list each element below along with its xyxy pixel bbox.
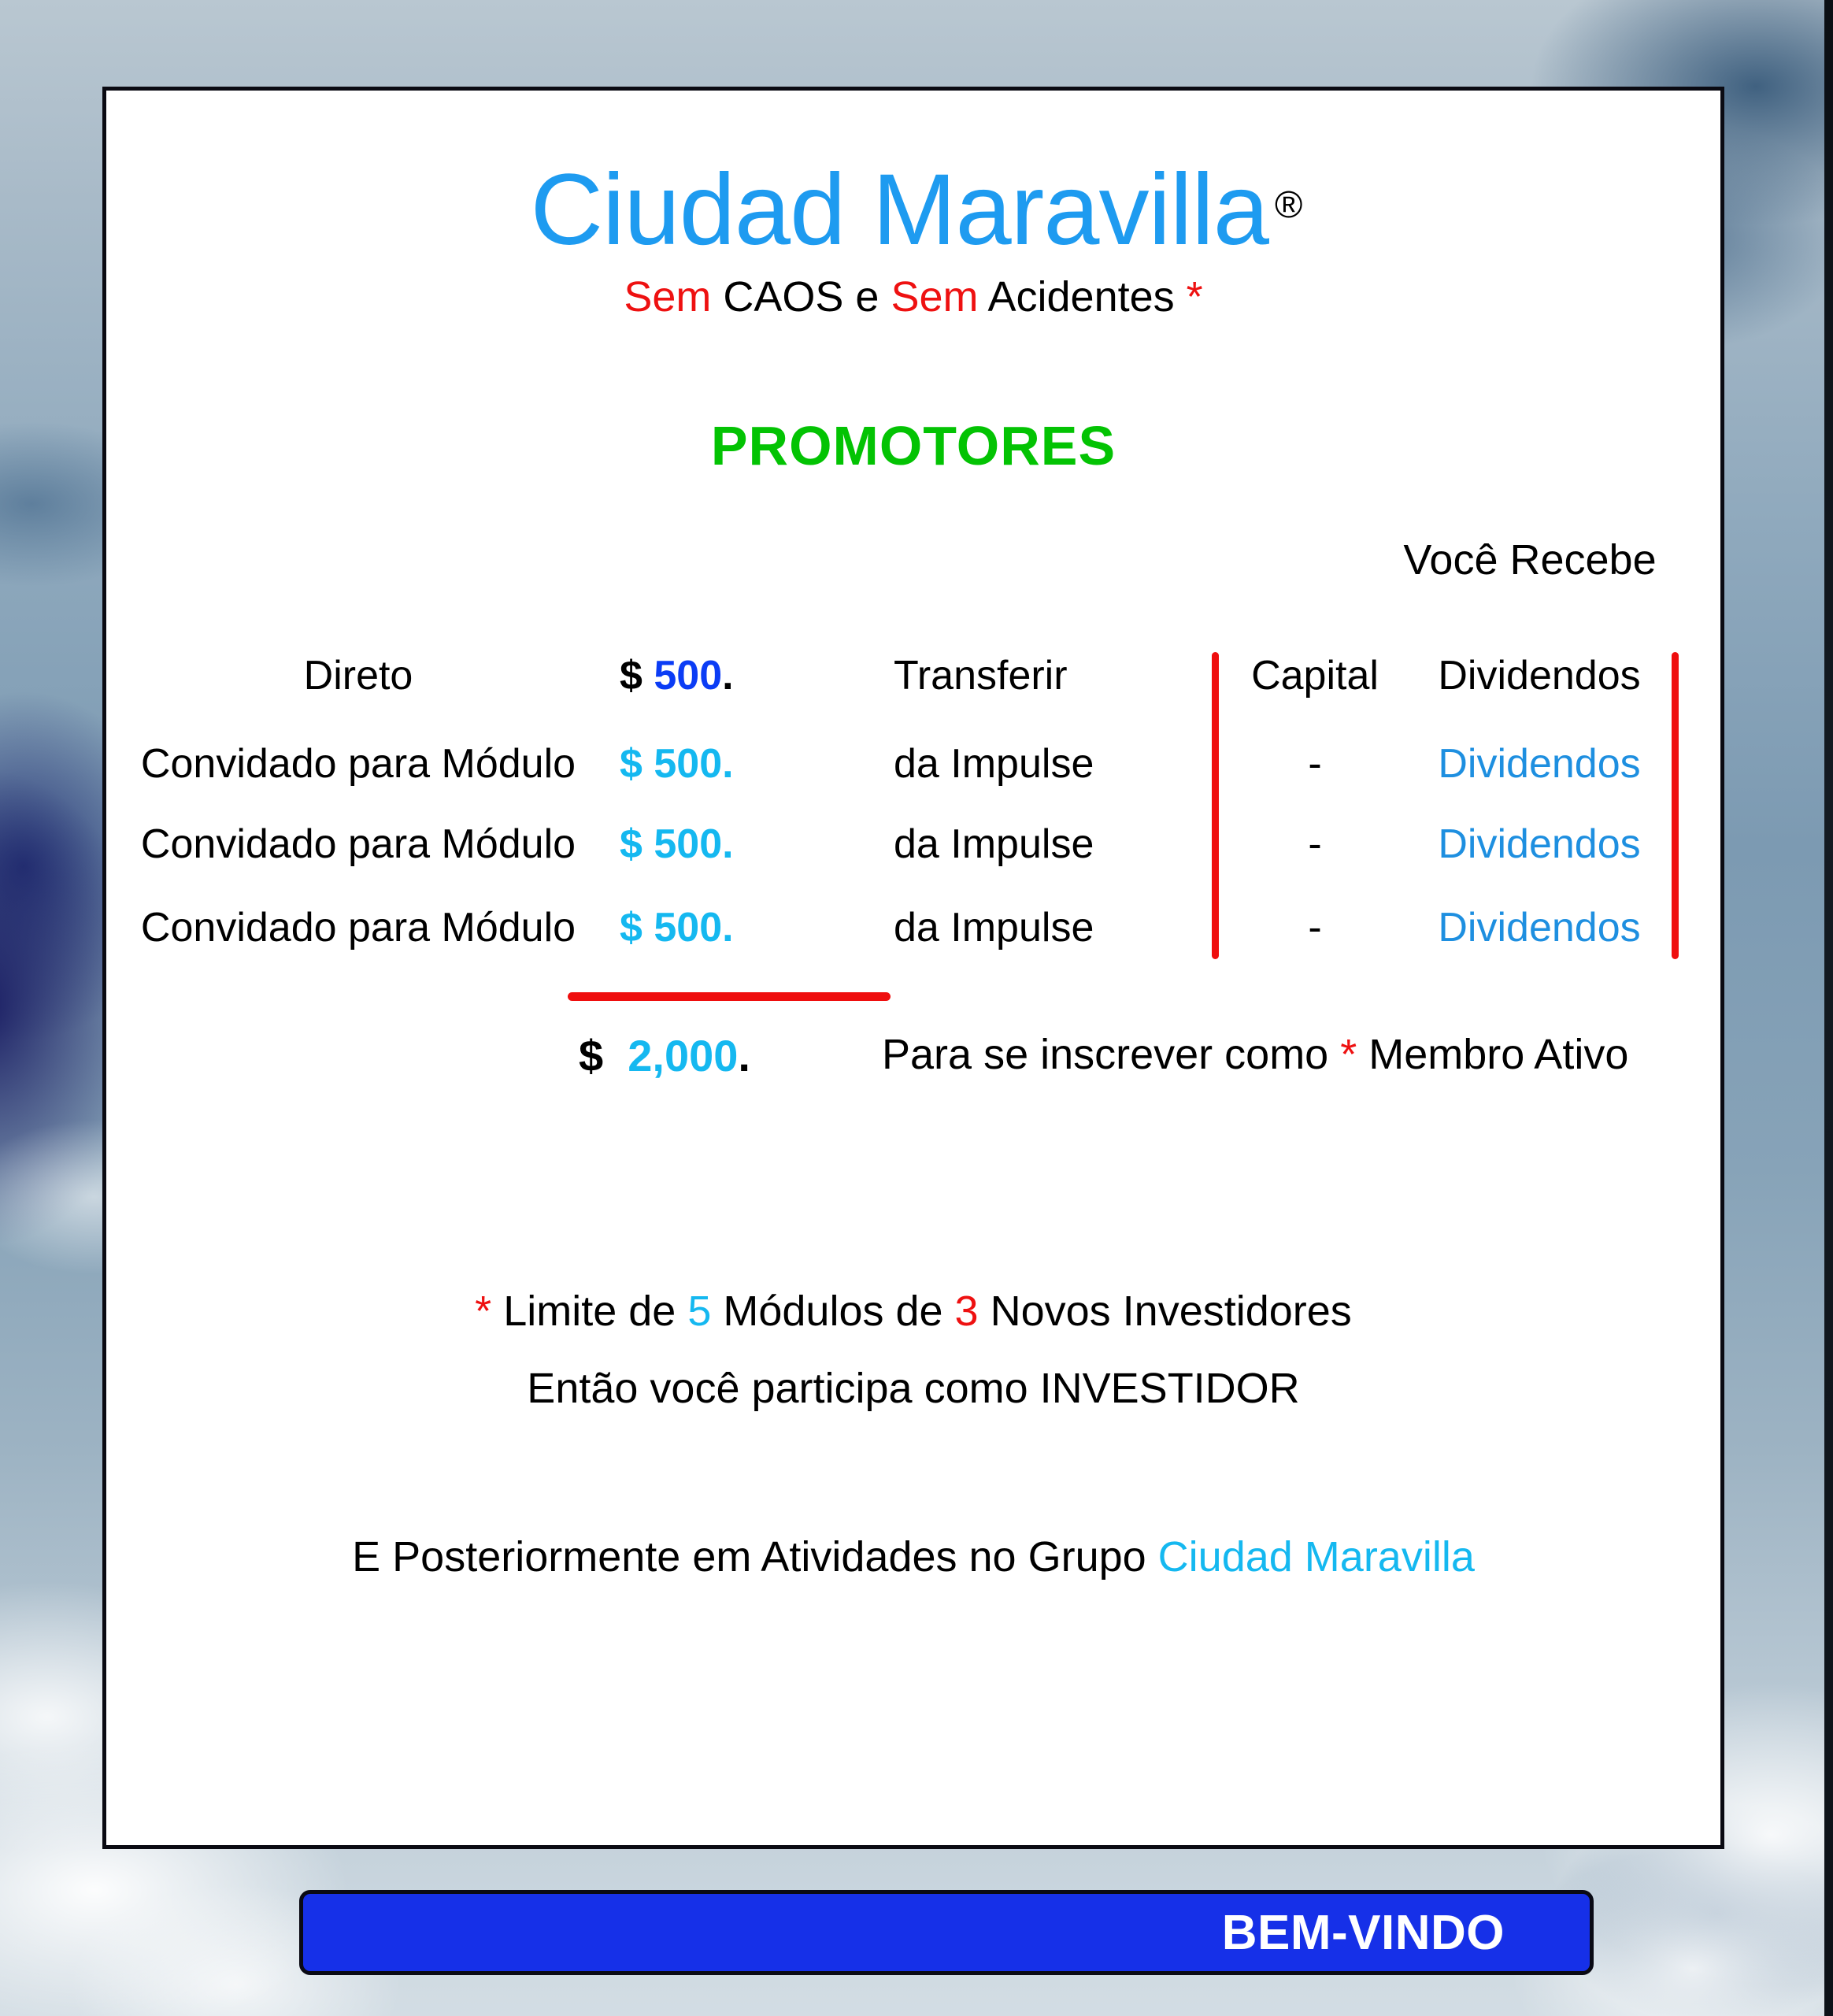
total-asterisk-icon: * [1340,1031,1357,1078]
row-capital: - [1224,740,1405,787]
amount-dot: . [722,653,733,699]
right-edge-strip [1824,0,1833,2016]
currency-symbol: $ [620,741,642,787]
row-dividends: Dividendos [1405,821,1673,868]
note-later-brand: Ciudad Maravilla [1158,1533,1475,1581]
table-row: Convidado para Módulo $ 500. da Impulse … [106,821,1720,882]
row-source: da Impulse [894,821,1177,868]
currency-symbol: $ [620,821,642,867]
note-limit-part2: Módulos de [711,1288,954,1335]
total-text-after: Membro Ativo [1357,1031,1628,1078]
registered-trademark-icon: ® [1275,184,1302,226]
amount-value: 500 [654,741,722,787]
row-capital: - [1224,821,1405,868]
row-source: Transferir [894,652,1177,699]
row-amount: $ 500. [620,740,856,787]
row-capital: Capital [1224,652,1405,699]
note-limit-investors: 3 [955,1288,979,1335]
tagline-caos: CAOS e [711,273,891,321]
amount-dot: . [738,1031,750,1080]
currency-symbol: $ [579,1031,603,1080]
brand-title: Ciudad Maravilla [531,154,1268,266]
you-receive-header: Você Recebe [1325,535,1735,584]
table-row: Direto $ 500. Transferir Capital Dividen… [106,652,1720,713]
table-row: Convidado para Módulo $ 500. da Impulse … [106,740,1720,802]
row-dividends: Dividendos [1405,904,1673,951]
welcome-button[interactable]: BEM-VINDO [299,1890,1594,1975]
row-label: Convidado para Módulo [106,821,610,868]
note-limit-modules: 5 [687,1288,711,1335]
amount-dot: . [722,741,733,787]
currency-symbol: $ [620,905,642,951]
row-amount: $ 500. [620,652,856,699]
content-card: Ciudad Maravilla® Sem CAOS e Sem Acident… [102,87,1724,1849]
total-description: Para se inscrever como * Membro Ativo [882,1030,1628,1079]
section-title-promotores: PROMOTORES [106,414,1720,477]
row-source: da Impulse [894,740,1177,787]
row-label: Convidado para Módulo [106,904,610,951]
table-row: Convidado para Módulo $ 500. da Impulse … [106,904,1720,965]
benefits-table: Você Recebe Direto $ 500. Transferir Cap… [106,528,1720,1221]
row-label: Convidado para Módulo [106,740,610,787]
slide-canvas: Ciudad Maravilla® Sem CAOS e Sem Acident… [0,0,1833,2016]
row-label: Direto [106,652,610,699]
note-limit-part3: Novos Investidores [979,1288,1352,1335]
amount-value: 500 [654,653,722,699]
row-capital: - [1224,904,1405,951]
amount-dot: . [722,905,733,951]
note-later: E Posteriormente em Atividades no Grupo … [106,1532,1720,1581]
row-dividends: Dividendos [1405,740,1673,787]
brand-header: Ciudad Maravilla® [106,152,1720,268]
total-separator-red-line [568,992,891,1001]
row-amount: $ 500. [620,904,856,951]
row-source: da Impulse [894,904,1177,951]
tagline-asterisk-icon: * [1187,273,1203,321]
row-amount: $ 500. [620,821,856,868]
currency-symbol: $ [620,653,642,699]
total-text-before: Para se inscrever como [882,1031,1340,1078]
amount-value: 500 [654,821,722,867]
tagline-acidentes: Acidentes [978,273,1186,321]
row-dividends: Dividendos [1405,652,1673,699]
tagline-sem-1: Sem [624,273,711,321]
tagline-sem-2: Sem [891,273,978,321]
welcome-button-label: BEM-VINDO [1222,1905,1505,1961]
note-limit-part1: Limite de [491,1288,687,1335]
note-limit: * Limite de 5 Módulos de 3 Novos Investi… [106,1287,1720,1336]
amount-dot: . [722,821,733,867]
total-amount: $ 2,000. [579,1030,862,1081]
note-then: Então você participa como INVESTIDOR [106,1364,1720,1413]
amount-value: 500 [654,905,722,951]
amount-value: 2,000 [628,1031,738,1080]
note-asterisk-icon: * [475,1288,491,1335]
note-later-text: E Posteriormente em Atividades no Grupo [352,1533,1158,1581]
tagline: Sem CAOS e Sem Acidentes * [106,272,1720,321]
